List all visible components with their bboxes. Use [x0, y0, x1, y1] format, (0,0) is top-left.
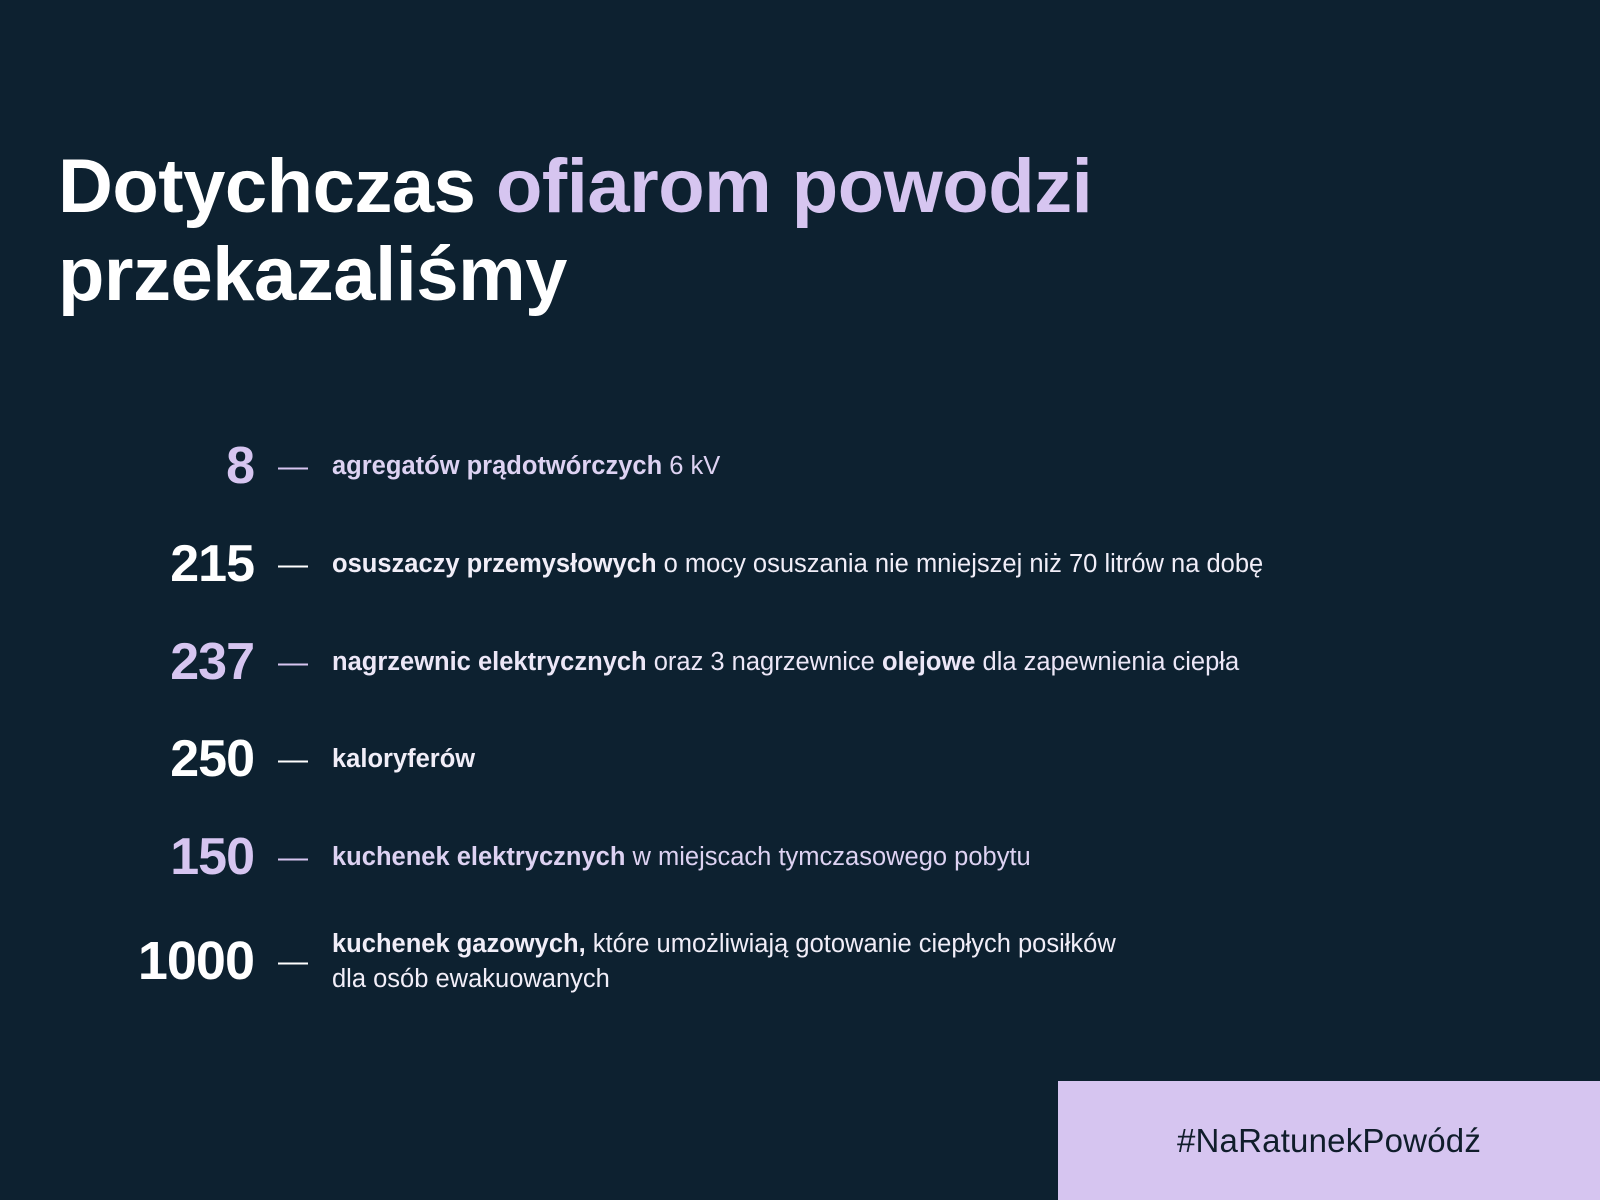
- stat-bold-label: nagrzewnic elektrycznych: [332, 648, 647, 676]
- stat-number: 215: [58, 538, 254, 590]
- stat-second-line: dla osób ewakuowanych: [332, 965, 610, 993]
- stat-rest-text: 6 kV: [662, 452, 720, 480]
- stat-text: kuchenek elektrycznych w miejscach tymcz…: [332, 839, 1600, 874]
- stat-rest-text: oraz 3 nagrzewnice: [647, 648, 882, 676]
- headline-part-1: Dotychczas: [58, 144, 496, 229]
- stat-dash-icon: —: [254, 548, 332, 580]
- stat-number: 150: [58, 831, 254, 883]
- stat-bold-label: osuszaczy przemysłowych: [332, 550, 657, 578]
- stat-bold-label: kuchenek elektrycznych: [332, 843, 625, 871]
- stat-row: 237 — nagrzewnic elektrycznych oraz 3 na…: [0, 613, 1600, 710]
- stat-rest-text: o mocy osuszania nie mniejszej niż 70 li…: [657, 550, 1264, 578]
- stat-bold-label: kaloryferów: [332, 745, 475, 773]
- stat-rest-text: w miejscach tymczasowego pobytu: [625, 843, 1030, 871]
- stat-row: 215 — osuszaczy przemysłowych o mocy osu…: [0, 514, 1600, 613]
- stat-rest-text-secondary: dla zapewnienia ciepła: [975, 648, 1239, 676]
- stat-number: 237: [58, 636, 254, 688]
- stat-number: 1000: [58, 934, 254, 988]
- page-title: Dotychczas ofiarom powodzi przekazaliśmy: [58, 143, 1478, 319]
- headline-part-2: przekazaliśmy: [58, 232, 567, 317]
- stat-text: kaloryferów: [332, 741, 1600, 776]
- stat-row: 8 — agregatów prądotwórczych 6 kV: [0, 418, 1600, 514]
- stat-row: 150 — kuchenek elektrycznych w miejscach…: [0, 808, 1600, 906]
- stat-bold-label: agregatów prądotwórczych: [332, 452, 662, 480]
- stat-text: nagrzewnic elektrycznych oraz 3 nagrzewn…: [332, 644, 1600, 679]
- stat-dash-icon: —: [254, 743, 332, 775]
- stat-row: 250 — kaloryferów: [0, 710, 1600, 808]
- stat-number: 250: [58, 733, 254, 785]
- stat-bold-label-secondary: olejowe: [882, 648, 976, 676]
- hashtag-label: #NaRatunekPowódź: [1177, 1122, 1481, 1160]
- stat-dash-icon: —: [254, 841, 332, 873]
- stat-text: kuchenek gazowych, które umożliwiają got…: [332, 926, 1600, 995]
- stat-row: 1000 — kuchenek gazowych, które umożliwi…: [0, 906, 1600, 1016]
- stats-list: 8 — agregatów prądotwórczych 6 kV 215 — …: [0, 418, 1600, 1016]
- stat-rest-text: które umożliwiają gotowanie ciepłych pos…: [586, 930, 1116, 958]
- hashtag-badge: #NaRatunekPowódź: [1058, 1081, 1600, 1200]
- stat-text: osuszaczy przemysłowych o mocy osuszania…: [332, 546, 1600, 581]
- stat-bold-label: kuchenek gazowych,: [332, 930, 586, 958]
- stat-number: 8: [58, 440, 254, 492]
- headline-accent: ofiarom powodzi: [496, 144, 1092, 229]
- stat-dash-icon: —: [254, 646, 332, 678]
- stat-text: agregatów prądotwórczych 6 kV: [332, 448, 1600, 483]
- stat-dash-icon: —: [254, 450, 332, 482]
- stat-dash-icon: —: [254, 945, 332, 977]
- infographic-canvas: Dotychczas ofiarom powodzi przekazaliśmy…: [0, 0, 1600, 1200]
